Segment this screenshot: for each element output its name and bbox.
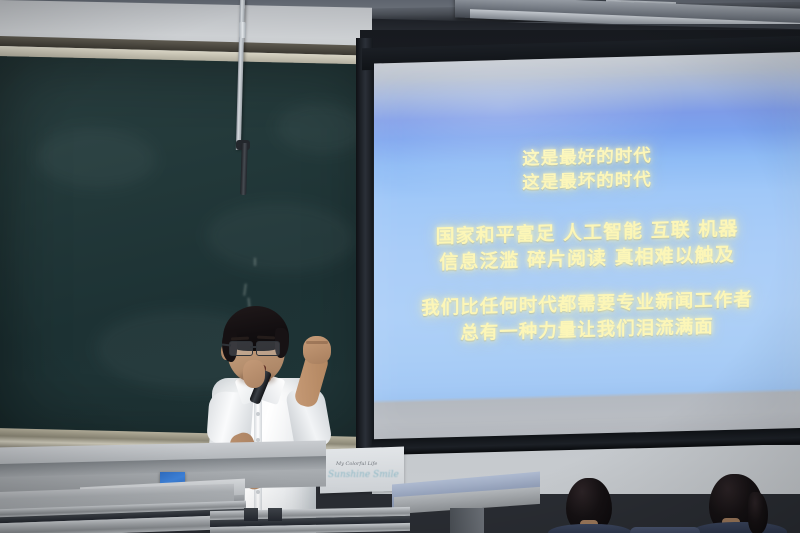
rod-grip [239,22,246,38]
presenter-shirt-button [256,490,260,494]
poster-text-line1: My Colorful Life [336,461,377,467]
desk-rail-far-left-2 [268,508,282,521]
front-desk-leg [450,508,484,533]
chalk-mark [243,284,247,296]
student-shoulder-left [548,524,632,533]
student-shoulder-right [692,522,787,533]
eyeglasses-left-lens [229,341,253,356]
presenter-fist-knuckles [306,341,328,344]
desk-rail-far-left [244,508,258,521]
projection-screen-left-frame [356,38,373,448]
slide-line-1: 这是最好的时代 [522,144,652,172]
presenter-hand-holding-mic [243,360,265,388]
presenter-shirt-button [256,412,260,416]
eyeglasses-right-lens [256,341,280,356]
slide-line-2: 这是最坏的时代 [522,168,652,196]
slide-line-6: 总有一种力量让我们泪流满面 [460,314,714,347]
poster-text-line2: Sunshine Smile [328,470,399,480]
lecture-hall-photo: 这是最好的时代 这是最坏的时代 国家和平富足 人工智能 互联 机器 信息泛滥 碎… [0,0,800,533]
slide-content: 这是最好的时代 这是最坏的时代 国家和平富足 人工智能 互联 机器 信息泛滥 碎… [374,52,800,446]
chalk-mark [254,258,256,266]
student-hair-strand-right [748,492,768,533]
blackboard [0,56,378,449]
student-arm-reaching [630,527,700,533]
eyeglasses-bridge [250,346,257,348]
